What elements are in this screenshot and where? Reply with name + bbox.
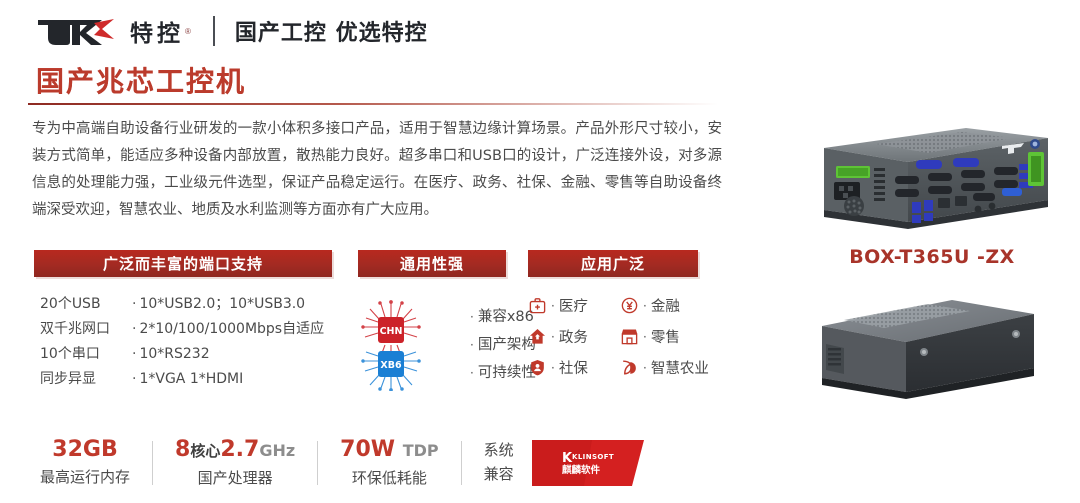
- section-header-compatibility: 通用性强: [358, 250, 506, 277]
- tk-logo-icon: [36, 14, 128, 48]
- port-label: 同步异显: [40, 367, 132, 392]
- list-item: ·可持续性: [470, 359, 536, 387]
- header-slogan: 国产工控 优选特控: [235, 15, 428, 47]
- stat-label: 最高运行内存: [40, 464, 130, 490]
- application-label: 零售: [651, 326, 680, 347]
- product-image-chassis: [820, 292, 1056, 400]
- svg-text:CHN: CHN: [380, 326, 403, 337]
- compatibility-block: CHN XB6 ·兼容x86 ·国产架构 ·可持续性: [360, 288, 536, 401]
- applications-grid: ·医疗 ·金融 ·政务: [528, 290, 709, 383]
- stat-divider: [317, 441, 318, 485]
- port-value: ·1*VGA 1*HDMI: [132, 367, 243, 392]
- chip-stack-graphic: CHN XB6: [360, 299, 422, 391]
- product-marketing-page: 特控 ® 国产工控 优选特控 国产兆芯工控机 专为中高端自助设备行业研发的一款小…: [0, 0, 1080, 503]
- application-item: ·社保: [528, 352, 614, 383]
- header-divider: [213, 16, 215, 46]
- application-item: ·金融: [620, 290, 709, 321]
- page-title: 国产兆芯工控机: [36, 60, 246, 100]
- port-value: ·2*10/100/1000Mbps自适应: [132, 317, 324, 342]
- port-value: ·10*USB2.0；10*USB3.0: [132, 292, 305, 317]
- kylinsoft-logo-badge: K KLINSOFT 麒麟软件: [532, 440, 644, 486]
- klin-brand-cn: 麒麟软件: [562, 464, 601, 476]
- list-item: 双千兆网口 ·2*10/100/1000Mbps自适应: [40, 317, 324, 342]
- application-label: 智慧农业: [651, 357, 709, 378]
- section-header-applications: 应用广泛: [528, 250, 698, 277]
- application-item: ·政务: [528, 321, 614, 352]
- application-label: 医疗: [559, 295, 588, 316]
- stat-value: 70W TDP: [340, 436, 438, 465]
- section-header-ports: 广泛而丰富的端口支持: [34, 250, 332, 277]
- stat-tdp: 70W TDP 环保低耗能: [340, 436, 438, 491]
- list-item: ·国产架构: [470, 331, 536, 359]
- home-icon: [528, 327, 547, 346]
- list-item: ·兼容x86: [470, 303, 536, 331]
- product-model-name: BOX-T365U -ZX: [816, 246, 1048, 268]
- application-label: 政务: [559, 326, 588, 347]
- svg-text:XB6: XB6: [380, 360, 402, 371]
- klin-brand: KLINSOFT: [572, 453, 614, 461]
- yen-coin-icon: [620, 296, 639, 315]
- port-label: 双千兆网口: [40, 317, 132, 342]
- stat-value: 8核心2.7GHz: [175, 436, 295, 465]
- port-label: 20个USB: [40, 292, 132, 317]
- application-item: ·医疗: [528, 290, 614, 321]
- product-image-front: [816, 126, 1048, 234]
- stat-divider: [152, 441, 153, 485]
- product-description: 专为中高端自助设备行业研发的一款小体积多接口产品，适用于智慧边缘计算场景。产品外…: [32, 116, 722, 224]
- stat-value: 32GB: [52, 436, 117, 464]
- bottom-stats-bar: 32GB 最高运行内存 8核心2.7GHz 国产处理器 70W TDP 环保低耗…: [40, 432, 644, 494]
- application-label: 金融: [651, 295, 680, 316]
- shop-icon: [620, 327, 639, 346]
- page-header: 特控 ® 国产工控 优选特控: [36, 8, 428, 54]
- stat-processor: 8核心2.7GHz 国产处理器: [175, 436, 295, 491]
- stat-label: 环保低耗能: [352, 465, 427, 491]
- compatibility-points: ·兼容x86 ·国产架构 ·可持续性: [430, 303, 536, 387]
- list-item: 20个USB ·10*USB2.0；10*USB3.0: [40, 292, 324, 317]
- port-value: ·10*RS232: [132, 342, 210, 367]
- title-underline: [28, 103, 718, 105]
- shield-person-icon: [528, 358, 547, 377]
- medical-kit-icon: [528, 296, 547, 315]
- stat-divider: [461, 441, 462, 485]
- application-item: ·智慧农业: [620, 352, 709, 383]
- application-item: ·零售: [620, 321, 709, 352]
- list-item: 10个串口 ·10*RS232: [40, 342, 324, 367]
- logo-wordmark: 特控: [130, 14, 184, 48]
- port-label: 10个串口: [40, 342, 132, 367]
- leaf-icon: [620, 358, 639, 377]
- system-compatibility-label: 系统 兼容: [484, 439, 514, 487]
- stat-label: 国产处理器: [198, 465, 273, 491]
- list-item: 同步异显 ·1*VGA 1*HDMI: [40, 367, 324, 392]
- trademark-symbol: ®: [185, 27, 191, 36]
- application-label: 社保: [559, 357, 588, 378]
- ports-spec-list: 20个USB ·10*USB2.0；10*USB3.0 双千兆网口 ·2*10/…: [40, 292, 324, 392]
- stat-memory: 32GB 最高运行内存: [40, 436, 130, 490]
